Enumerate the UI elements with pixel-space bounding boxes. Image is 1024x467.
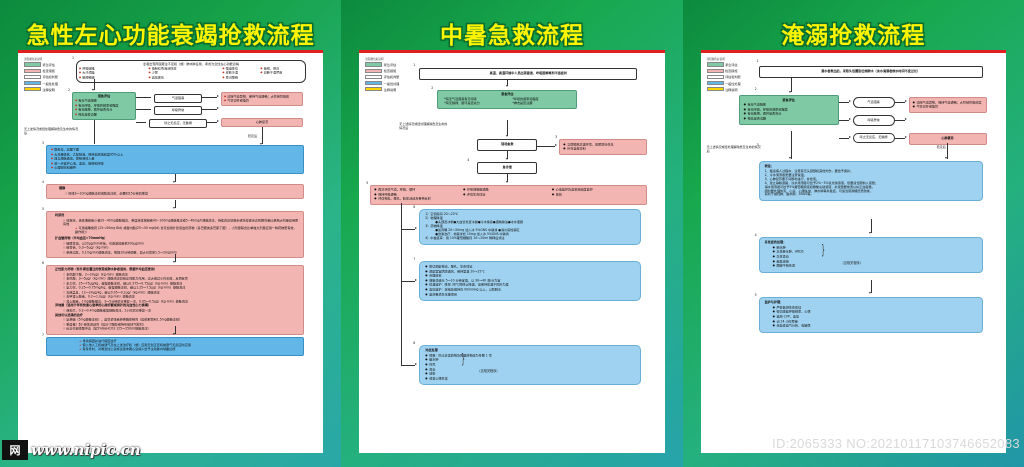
vasodilator-item: 奈西立肽，0.1mg/min静脉滴注，每隔10分钟调整，最大可增至1.5～2mg… — [63, 251, 299, 256]
legend-swatch-white — [707, 75, 724, 79]
legend-item: 评估和判断 — [707, 74, 753, 79]
legend-item: 注释说明 — [707, 87, 753, 92]
arrow-icon — [945, 157, 947, 159]
arrow-icon — [217, 107, 219, 109]
legend-item: 紧急评估 — [24, 62, 70, 67]
step-number: 7 — [413, 257, 415, 261]
connector — [401, 229, 415, 230]
note-text: 稳定后 — [248, 134, 257, 138]
legend-title: 流程图色彩说明 — [365, 57, 411, 61]
judgement-airway-obstruction: 气道阻塞 — [154, 94, 202, 103]
node-sedation: 镇静 吗啡3～10mg静脉注射或肌肉注射，必要时15分钟后重复 — [46, 184, 304, 199]
cooling-item: 4）中暑痉挛：用 10%葡萄糖酸钙 10～20ml 稀释后滴注 — [425, 237, 635, 241]
note-text: 无上述情况或经处理解除危及生命的情况后 — [399, 122, 447, 130]
note-stable: 稳定后 — [937, 146, 946, 150]
measure-item: 补充含盐饮料 — [563, 147, 643, 152]
node-drowning-rescue: 溺水者救出后，采取头低腰卧位倒肺水（淡水淹溺者倒水时间不宜过长） — [759, 66, 983, 78]
connector — [839, 120, 849, 121]
step-number: 1 — [413, 63, 415, 67]
step-number: 5 — [755, 293, 757, 297]
poster-stage: 急性左心功能衰竭抢救流程 流程图色彩说明 紧急评估 检查措施 评估和判断 一般性… — [0, 0, 1024, 467]
node-nursing-care: 监护与护理： 严密监测生命体征 密切观察呼吸频率、心律 监测 CVP、血压 记 … — [759, 297, 983, 333]
assessment-item: *有无脉搏、循环是否充分 — [444, 102, 512, 106]
note-no-condition: 无上述情况或经处理解除危及生命的情况后 — [24, 128, 80, 136]
see-related-procedure: （见相关程序） — [841, 261, 863, 265]
legend-item: 检查措施 — [365, 68, 411, 73]
node-text: 心肺复苏 — [256, 120, 268, 124]
legend-label: 注释说明 — [725, 87, 737, 92]
arrow-icon — [905, 118, 907, 120]
node-text: 呼吸异常 — [867, 118, 879, 122]
assessment-item: *神志是否清醒 — [512, 102, 567, 106]
connector — [202, 97, 217, 98]
legend-item: 一般性处理 — [707, 81, 753, 86]
judgement-no-response: 呼之无反应，无脉搏 — [853, 133, 895, 143]
legend-label: 一般性处理 — [725, 81, 740, 86]
note-text: 无上述情况或经处理解除危及生命的情况后 — [24, 127, 78, 135]
connector — [839, 138, 849, 139]
legend-label: 注释说明 — [43, 87, 55, 92]
legend-panel-1: 流程图色彩说明 紧急评估 检查措施 评估和判断 一般性处理 注释说明 — [24, 57, 70, 93]
reassess-item: 评估生命体征 — [463, 193, 552, 198]
connector — [537, 146, 555, 147]
step-number: 7 — [42, 333, 44, 337]
panel-3-title: 淹溺抢救流程 — [683, 16, 1024, 50]
node-heatstroke-onset: 高温、高湿环境中人员出现昏迷、呼吸困难等剂不适症状 — [419, 68, 637, 80]
sedation-item: 吗啡3～10mg静脉注射或肌肉注射，必要时15分钟后重复 — [65, 192, 299, 197]
step-number: 3 — [555, 135, 557, 139]
connector — [136, 122, 146, 123]
symptom-treatment-item: 诱发心律失常 — [425, 377, 635, 382]
step-number: 6 — [42, 261, 44, 265]
arrow-icon — [415, 227, 417, 229]
step-number: 2 — [755, 87, 757, 91]
connector — [895, 102, 905, 103]
arrow-icon — [905, 136, 907, 138]
node-symptomatic-treatment: 对症处理 惊厥：巴比妥类药物及降温药物改为冬眠 1 号 脑水肿 休克 肾衰 感染… — [419, 345, 641, 385]
node-etiology-treatment: 寻找病因并进行病因治疗 慎入他人工机械通气及在上述治疗和（或）应用无创正压机械通… — [46, 337, 304, 356]
assessment-item: 神志是否清醒 — [744, 117, 834, 122]
legend-item: 紧急评估 — [365, 62, 411, 67]
connector — [136, 97, 151, 98]
panel-acute-left-heart-failure: 急性左心功能衰竭抢救流程 流程图色彩说明 紧急评估 检查措施 评估和判断 一般性… — [0, 0, 341, 467]
node-reassessment: 再次评估气道、呼吸、循环开放静脉脉通路心电监护及血氧饱和度监护 保持呼吸通畅评估… — [370, 185, 647, 205]
legend-label: 紧急评估 — [725, 62, 737, 67]
judgement-abnormal-breathing: 呼吸异常 — [853, 115, 895, 126]
connector — [871, 219, 872, 233]
connector — [136, 109, 151, 110]
legend-swatch-green — [24, 62, 41, 66]
arrow-icon — [415, 363, 417, 365]
connector — [401, 203, 402, 266]
connector — [895, 138, 905, 139]
arrow-icon — [869, 232, 871, 234]
connector — [401, 266, 402, 366]
note-text: （见相关程序） — [841, 261, 863, 265]
action-clear-airway: 清除气道异物，保持气道通畅；大管径管吸痰 气管切开或插管 — [221, 92, 303, 106]
legend-swatch-blue — [707, 81, 724, 85]
note-stable: 稳定后 — [248, 135, 257, 139]
node-text: 呼之无反应，无脉搏 — [164, 121, 192, 125]
legend-swatch-yellow — [24, 87, 41, 91]
note-no-condition: 无上述情况或经处理解除危及生命的情况后 — [399, 123, 449, 131]
symptom-item: 意识障碍 — [222, 76, 289, 81]
legend-swatch-blue — [365, 81, 382, 85]
legend-swatch-green — [365, 62, 382, 66]
node-text: 现场急救 — [501, 142, 513, 146]
step-number: 3 — [42, 141, 44, 145]
connector — [401, 281, 415, 282]
legend-item: 评估和判断 — [365, 74, 411, 79]
node-text: 高温、高湿环境中人员出现昏迷、呼吸困难等剂不适症状 — [490, 71, 567, 75]
image-id-tag: ID:2065333 NO:20210117103746652083 — [772, 436, 1020, 451]
node-heading: 洋地黄（适用于伴有快速心室率的心房纤颤或房扑的充血性心力衰竭） — [55, 304, 299, 308]
connector — [507, 120, 508, 136]
legend-swatch-yellow — [707, 87, 724, 91]
node-initial-assessment: 患者出现周围灌注不足和（或）肺水肿征象，考虑为急性左心功能衰竭 呼吸困难咳粉红色… — [76, 60, 306, 83]
node-text: 呼之无反应，无脉搏 — [860, 135, 888, 139]
legend-title: 流程图色彩说明 — [24, 57, 70, 61]
connector — [202, 109, 217, 110]
legend-item: 一般性处理 — [24, 81, 70, 86]
arrow-icon — [217, 95, 219, 97]
legend-label: 评估和判断 — [384, 74, 399, 79]
node-text: 气道阻塞 — [867, 100, 879, 104]
node-emergency-assessment: 紧急评估 *有无气道阻塞有无呼吸*呼吸的频率和程度 *有无脉搏、循环是否充分*神… — [437, 90, 577, 109]
panel-heatstroke: 中暑急救流程 流程图色彩说明 紧急评估 检查措施 评估和判断 一般性处理 注释说… — [341, 0, 682, 467]
action-item: 气管切开或插管 — [224, 99, 300, 104]
node-text: 呼吸异常 — [172, 108, 184, 112]
legend-label: 注释说明 — [384, 87, 396, 92]
legend-swatch-yellow — [365, 87, 382, 91]
arrow-icon — [555, 144, 557, 146]
panel-2-title: 中暑急救流程 — [341, 16, 682, 50]
legend-item: 注释说明 — [24, 87, 70, 92]
step-number: 5 — [366, 181, 368, 185]
arrow-icon — [217, 120, 219, 122]
node-emergency-assessment: 紧急评估 有无气道阻塞 有无呼吸、呼吸的频率和程度 有无脉搏、循环是否充分 神志… — [72, 92, 136, 120]
complication-item: 酸碱平衡失调 — [773, 264, 977, 269]
connector — [839, 102, 849, 103]
action-cpr: 心肺复苏 — [909, 133, 987, 145]
arrow-icon — [506, 135, 508, 137]
judgement-no-response: 呼之无反应，无脉搏 — [149, 119, 207, 128]
node-text: 心肺复苏 — [941, 136, 953, 140]
connector — [94, 120, 95, 144]
step-number: 8 — [413, 341, 415, 345]
node-text: 气道阻塞 — [172, 96, 184, 100]
note-text: 无上述情况或经处理解除危及生命的情况后 — [707, 145, 761, 153]
legend-panel-3: 流程图色彩说明 紧急评估 检查措施 评估和判断 一般性处理 注释说明 — [707, 57, 753, 93]
panel-3-sheet: 流程图色彩说明 紧急评估 检查措施 评估和判断 一般性处理 注释说明 1 溺水者… — [701, 50, 1006, 453]
node-general-treatment: 取坐位，双腿下垂 大流量吸氧、乙醇除泡、保持血氧饱和度95%以上 建立静脉通道，… — [46, 145, 304, 174]
node-heading: 紧急评估 — [744, 99, 834, 103]
arrow-icon — [905, 100, 907, 102]
connector — [791, 77, 792, 92]
arrow-icon — [849, 136, 851, 138]
arrow-icon — [173, 181, 175, 183]
assessment-item: 神志是否清醒 — [75, 113, 133, 118]
step-number: 2 — [68, 88, 70, 92]
legend-panel-2: 流程图色彩说明 紧急评估 检查措施 评估和判断 一般性处理 注释说明 — [365, 57, 411, 93]
legend-title: 流程图色彩说明 — [707, 57, 753, 61]
node-text: 溺水者救出后，采取头低腰卧位倒肺水（淡水淹溺者倒水时间不宜过长） — [821, 69, 920, 73]
brace-icon: } — [462, 353, 466, 366]
legend-label: 检查措施 — [725, 68, 737, 73]
arrow-icon — [92, 89, 94, 91]
legend-label: 紧急评估 — [384, 62, 396, 67]
connector — [791, 131, 792, 159]
legend-swatch-pink — [24, 69, 41, 73]
step-number: 1 — [72, 56, 74, 60]
step-number: 1 — [757, 59, 759, 63]
legend-swatch-pink — [365, 69, 382, 73]
panel-2-sheet: 流程图色彩说明 紧急评估 检查措施 评估和判断 一般性处理 注释说明 1 高温、… — [359, 50, 664, 453]
arrow-icon — [869, 292, 871, 294]
monitor-item: 监测各项生化等项目 — [425, 293, 635, 298]
action-cpr: 心肺复苏 — [221, 118, 303, 127]
legend-label: 一般性处理 — [43, 81, 58, 86]
node-heading: 其他可以选择的治疗 — [55, 314, 299, 318]
node-emergency-assessment: 紧急评估 有无气道阻塞 有无呼吸、呼吸的频率和程度 有无脉搏、循环是否充分 神志… — [739, 95, 839, 125]
legend-label: 检查措施 — [384, 68, 396, 73]
step-number: 4 — [467, 158, 469, 162]
legend-swatch-pink — [707, 69, 724, 73]
nursing-item: 采血查血气分析、电解质 — [773, 324, 977, 329]
diuretic-item: 可用噻嗪类药 (25～50mg Bid) 或者内酯(25～50 mgQd) 也可… — [75, 227, 299, 235]
arrow-icon — [789, 91, 791, 93]
note-text: （见相关程序） — [477, 369, 499, 373]
step-number: 5 — [42, 207, 44, 211]
see-related-procedure: （见相关程序） — [477, 369, 499, 373]
legend-item: 检查措施 — [24, 68, 70, 73]
node-transfer: 转运： 1、搬运病人过程中，注意有无头颈部和其他外伤，要给予保护。 2、冷水淹溺… — [759, 161, 983, 201]
node-inotropes: 正性肌力药物（有外周低灌注的表现或肺水肿者适用，根据平均血压使用） 多巴酚丁胺，… — [46, 265, 304, 335]
brace-icon: } — [821, 244, 825, 257]
connector — [262, 127, 263, 144]
node-heading: 并发症的处理： — [765, 241, 977, 245]
arrow-icon — [173, 333, 175, 335]
arrow-icon — [849, 100, 851, 102]
legend-item: 紧急评估 — [707, 62, 753, 67]
legend-label: 紧急评估 — [43, 62, 55, 67]
note-no-condition: 无上述情况或经处理解除危及生命的情况后 — [707, 146, 763, 154]
arrow-icon — [173, 261, 175, 263]
judgement-airway-obstruction: 气道阻塞 — [853, 97, 895, 108]
legend-label: 检查措施 — [43, 68, 55, 73]
legend-swatch-blue — [24, 81, 41, 85]
note-text: 稳定后 — [937, 145, 946, 149]
step-number: 3 — [757, 143, 759, 147]
step-number: 6 — [413, 205, 415, 209]
action-clear-airway: 清除气道异物，保持气道通畅；大管径管吸痰度 气管切开或插管 — [909, 97, 987, 113]
node-immediate-measures: 立即脱离高温环境，置阴凉处休息 补充含盐饮料 — [559, 139, 647, 155]
panel-1-title: 急性左心功能衰竭抢救流程 — [0, 16, 341, 50]
arrow-icon — [506, 181, 508, 183]
legend-item: 一般性处理 — [365, 81, 411, 86]
arrow-icon — [506, 158, 508, 160]
legend-item: 评估和判断 — [24, 74, 70, 79]
legend-swatch-white — [365, 75, 382, 79]
legend-item: 注释说明 — [365, 87, 411, 92]
symptom-item: 脉搏细速 — [79, 76, 148, 81]
arrow-icon — [506, 85, 508, 87]
node-text: 急诊室 — [503, 165, 512, 169]
legend-label: 一般性处理 — [384, 81, 399, 86]
arrow-icon — [849, 118, 851, 120]
node-monitoring: 密切观察神志、瞳孔、生命体征 观察室宜阴凉通风，保持室温 20～25℃ 合理给氧… — [419, 261, 641, 301]
symptom-item: 血压变化 — [148, 76, 222, 81]
connector — [895, 120, 905, 121]
node-cooling-measures: 1）空调房间 20～25℃ 2）物理降温 ●头部置冰帽●大血管处置冰袋●冷水擦身… — [419, 209, 641, 245]
judgement-abnormal-breathing: 呼吸异常 — [154, 106, 202, 115]
transfer-item: 有利于减轻肺、脑水肿、ARDS等。 — [765, 193, 977, 197]
panel-drowning: 淹溺抢救流程 流程图色彩说明 紧急评估 检查措施 评估和判断 一般性处理 注释说… — [683, 0, 1024, 467]
legend-label: 评估和判断 — [725, 74, 740, 79]
legend-item: 检查措施 — [707, 68, 753, 73]
legend-label: 评估和判断 — [43, 74, 58, 79]
legend-swatch-white — [24, 75, 41, 79]
arrow-icon — [415, 279, 417, 281]
step-number: 4 — [42, 180, 44, 184]
legend-swatch-green — [707, 62, 724, 66]
connector — [401, 365, 415, 366]
action-item: 气管切开或插管 — [913, 105, 983, 110]
reassess-item: 评估神志、瞳孔、肢体活动及各种反射 — [374, 197, 643, 202]
treatment-item: 心理安慰和辅导 — [51, 166, 299, 171]
node-heading: 紧急评估 — [75, 95, 133, 99]
step-number: 2 — [431, 86, 433, 90]
panel-1-sheet: 流程图色彩说明 紧急评估 检查措施 评估和判断 一般性处理 注释说明 1 患者出… — [18, 50, 323, 453]
etiology-item: 有条件时，对难治性心衰或患者末期心衰病人给予主动脉内球囊反搏 — [79, 348, 299, 352]
arrow-icon — [789, 157, 791, 159]
step-number: 4 — [755, 233, 757, 237]
arrow-icon — [173, 207, 175, 209]
connector — [207, 122, 217, 123]
node-complications: 并发症的处理： 肺水肿 急性肺水肿，ARDS 急性肾衰 继发感染 酸碱平衡失调 — [759, 237, 983, 273]
node-diuretics: 利尿剂 呋塞米，液体潴留量少者20~40mg静脉推注，重度液体潴留者40~100… — [46, 211, 304, 258]
other-treatment-item: 纠正代谢性酸中毒（如5%NaHCO3 125～250ml静脉滴注） — [63, 327, 299, 332]
reassess-item: 吸氧 — [552, 193, 641, 198]
